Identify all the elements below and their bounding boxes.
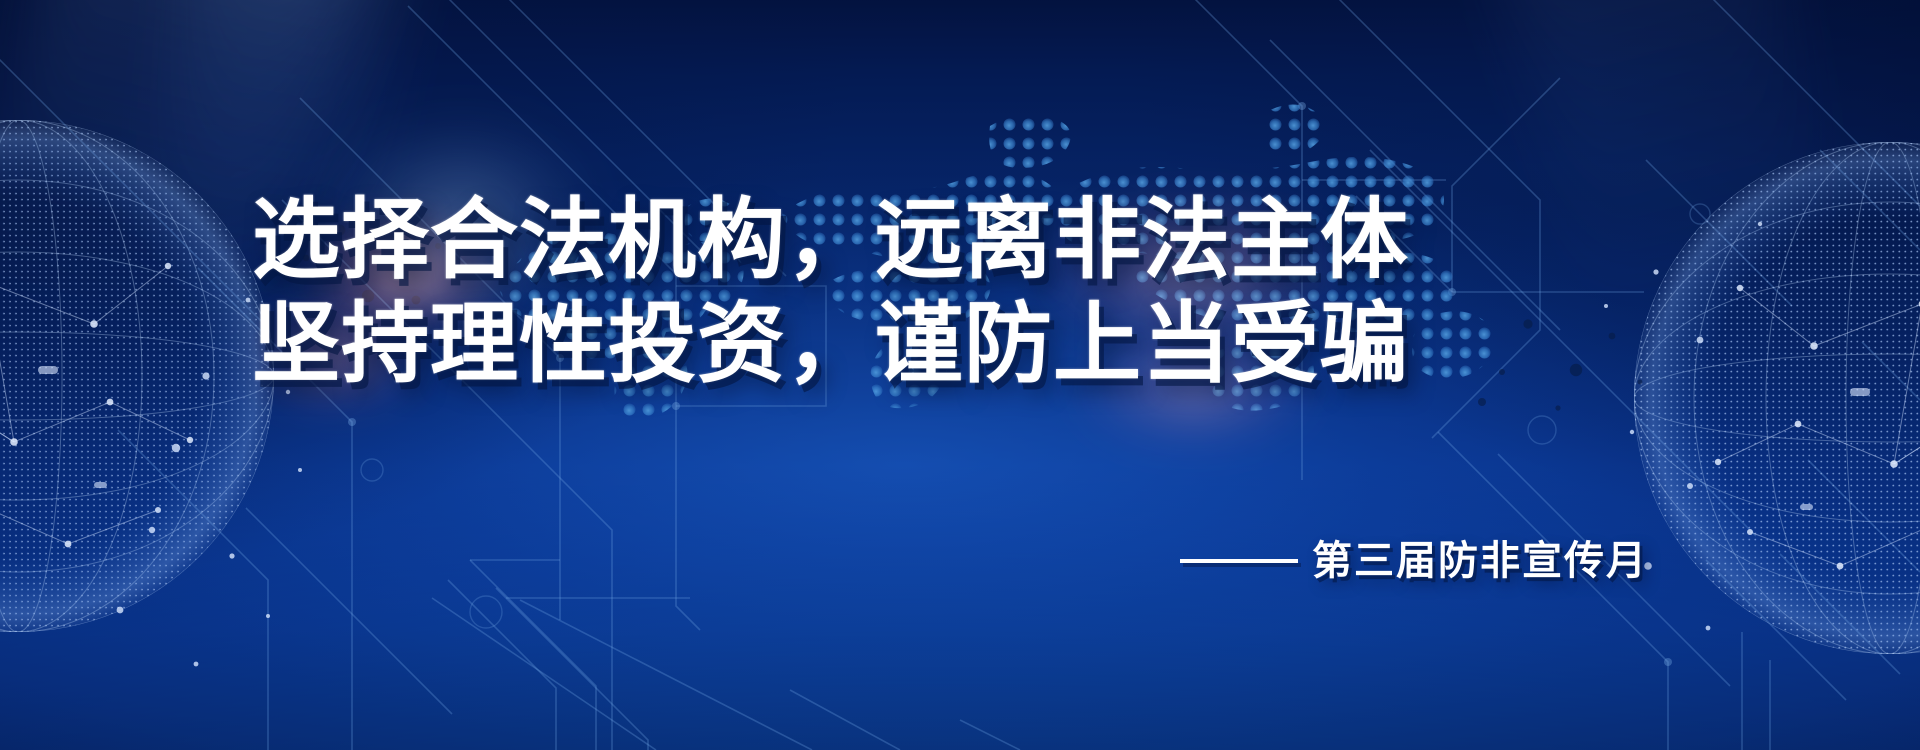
headline-line-2: 坚持理性投资，谨防上当受骗 xyxy=(252,296,1372,392)
headline-block: 选择合法机构，远离非法主体 坚持理性投资，谨防上当受骗 xyxy=(252,192,1372,392)
attribution-block: 第三届防非宣传月 xyxy=(1180,538,1648,584)
attribution-dash-rule xyxy=(1180,559,1298,563)
attribution-text: 第三届防非宣传月 xyxy=(1312,538,1648,584)
headline-line-1: 选择合法机构，远离非法主体 xyxy=(252,192,1372,288)
banner-canvas: 选择合法机构，远离非法主体 坚持理性投资，谨防上当受骗 第三届防非宣传月 xyxy=(0,0,1920,750)
